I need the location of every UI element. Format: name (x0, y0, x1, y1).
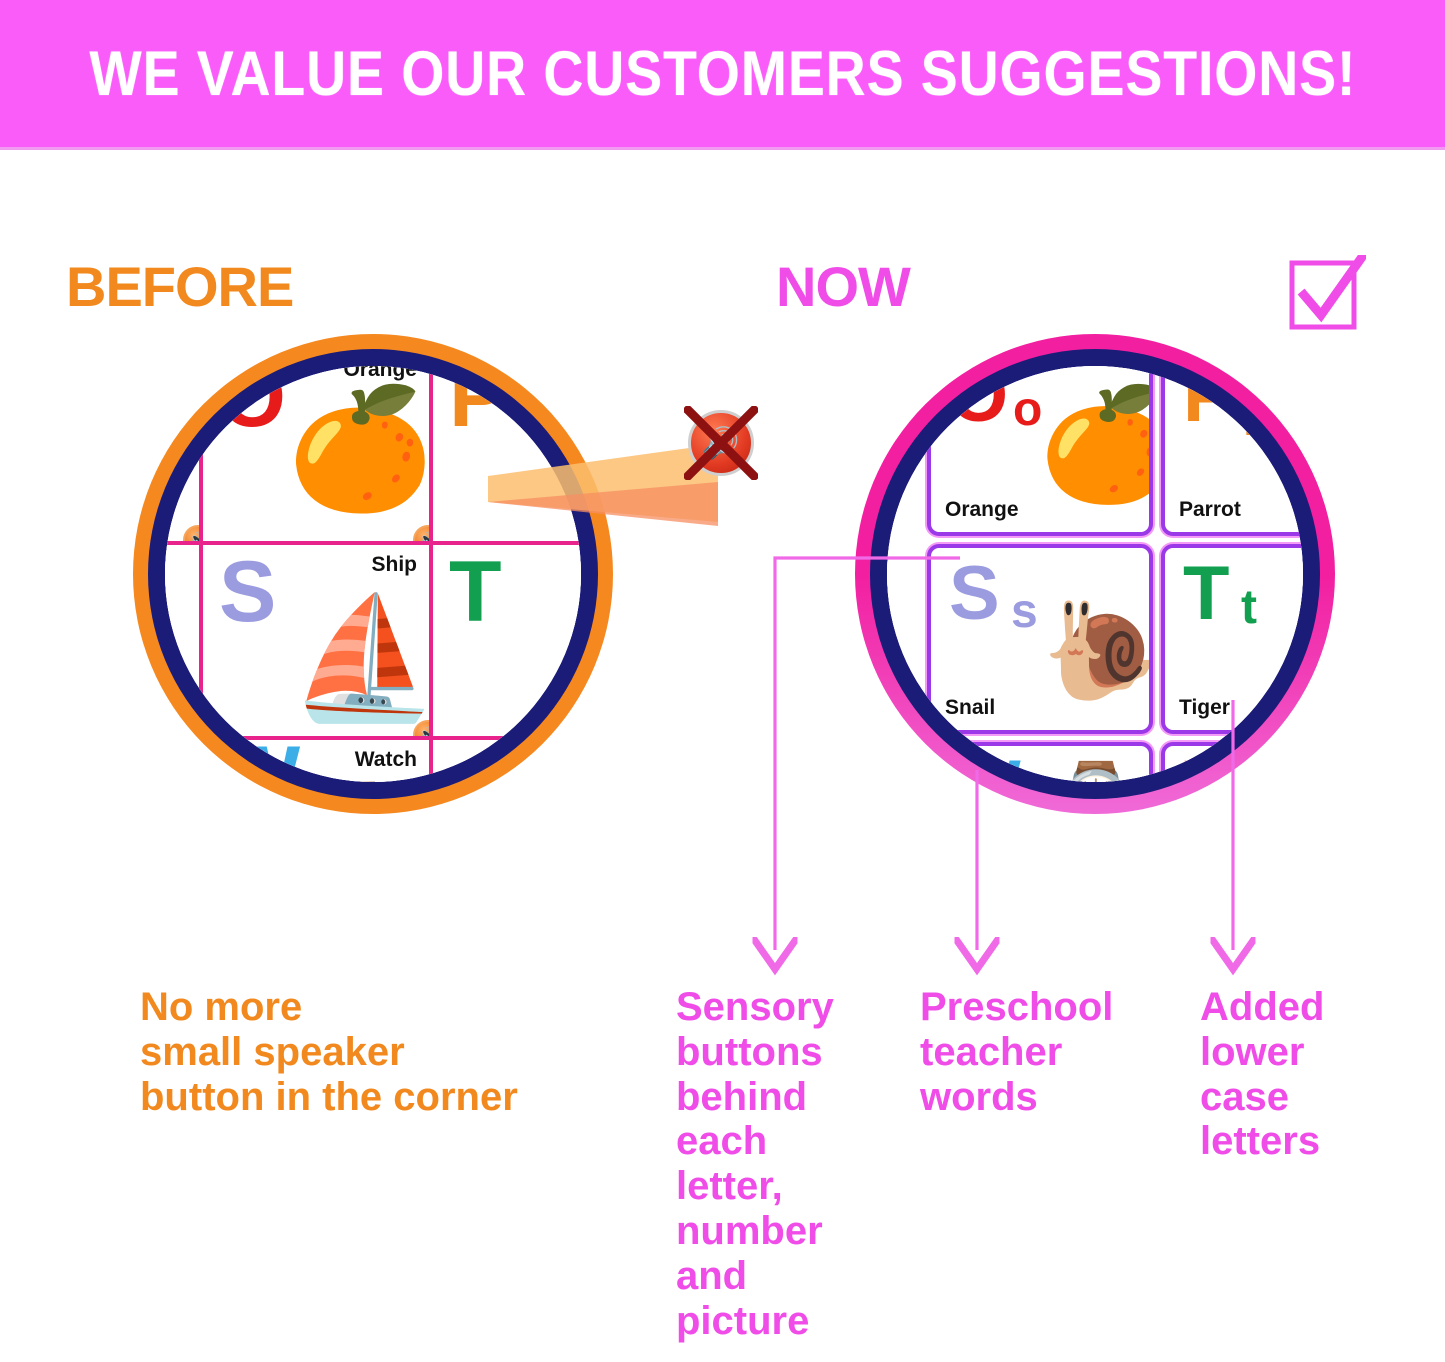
cell-letter: P (449, 366, 506, 440)
rose-image: 🌹 (165, 571, 171, 667)
caption-sensory-buttons: Sensory buttons behind each letter, numb… (676, 985, 866, 1343)
table-cell-orange: O Orange 🍊 🔊 (201, 366, 431, 543)
table-cell-tiger: T t Tiger 🐅 (1161, 544, 1303, 734)
snail-image: 🐌 (1043, 596, 1153, 708)
checkbox-checked-icon (1288, 255, 1366, 333)
orange-fruit-image: 🍊 (1039, 380, 1153, 509)
cell-letter-upper: S (949, 556, 1000, 632)
header-banner: WE VALUE OUR CUSTOMERS SUGGESTIONS! (0, 0, 1445, 150)
cell-letter-lower: o (1013, 386, 1042, 434)
cell-letter-upper: T (1183, 556, 1229, 632)
cell-letter-upper: P (1183, 366, 1234, 434)
cell-word: Orange (343, 366, 417, 382)
table-cell-watch: W Watch ⌚ (201, 738, 431, 782)
now-label: NOW (776, 254, 910, 319)
table-cell-snail: S s Snail 🐌 (927, 544, 1153, 734)
caption-preschool-words: Preschool teacher words (920, 985, 1150, 1119)
table-cell-yarn: Y (1161, 742, 1303, 782)
table-cell-parrot: P p Parrot 🦜 (1161, 366, 1303, 536)
now-alphabet-grid: K k Key 🗝 L Lion 🪹 O o Orange 🍊 P p (887, 366, 1303, 782)
table-cell (887, 742, 919, 782)
cell-letter-lower: p (1243, 386, 1272, 434)
wrist-watch-image: ⌚ (1051, 758, 1141, 782)
bird-nest-image: 🪹 (887, 372, 891, 457)
table-cell (165, 738, 201, 782)
cell-letter-upper: O (949, 366, 1008, 434)
table-cell-rose: e 🌹 🔊 (165, 543, 201, 738)
cell-letter: O (219, 366, 286, 440)
orange-fruit-image: 🍊 (287, 390, 431, 508)
table-cell-orange: O o Orange 🍊 (927, 366, 1153, 536)
speaker-muted-crossed-out-icon: 🔊 (684, 406, 758, 480)
now-disc: K k Key 🗝 L Lion 🪹 O o Orange 🍊 P p (887, 366, 1303, 782)
cell-word: Ship (372, 553, 418, 577)
cell-letter-lower: t (1241, 584, 1257, 632)
cell-word: Tiger (1179, 696, 1230, 720)
cell-word: Orange (945, 498, 1019, 522)
speaker-icon[interactable]: 🔊 (183, 720, 201, 738)
cell-word: Parrot (1179, 498, 1241, 522)
table-cell-nest: Nest 🪹 🔊 (165, 366, 201, 543)
cross-out-mark (684, 406, 758, 480)
cell-letter-upper: W (949, 750, 1021, 782)
cell-letter-lower: s (1011, 588, 1038, 636)
now-circle: K k Key 🗝 L Lion 🪹 O o Orange 🍊 P p (855, 334, 1335, 814)
cell-letter-upper: Y (1183, 750, 1234, 782)
banner-title: WE VALUE OUR CUSTOMERS SUGGESTIONS! (89, 38, 1356, 110)
cell-letter: S (219, 549, 276, 635)
table-cell-nest: 🪹 (887, 366, 919, 536)
table-cell-rose: 🌹 (887, 544, 919, 734)
before-label: BEFORE (66, 254, 293, 319)
rose-image: 🌹 (887, 568, 894, 660)
caption-before: No more small speaker button in the corn… (140, 985, 660, 1119)
cell-word: Snail (945, 696, 995, 720)
sailing-ship-image: ⛵ (289, 589, 431, 729)
cell-letter: W (219, 738, 300, 782)
table-cell (431, 738, 581, 782)
cell-word: Watch (355, 748, 417, 772)
speaker-icon[interactable]: 🔊 (413, 525, 431, 543)
table-cell-ship: S Ship ⛵ 🔊 (201, 543, 431, 738)
caption-lowercase-letters: Added lower case letters (1200, 985, 1400, 1164)
table-cell-watch: W w ⌚ (927, 742, 1153, 782)
wrist-watch-image: ⌚ (315, 780, 402, 782)
speaker-icon[interactable]: 🔊 (183, 525, 201, 543)
